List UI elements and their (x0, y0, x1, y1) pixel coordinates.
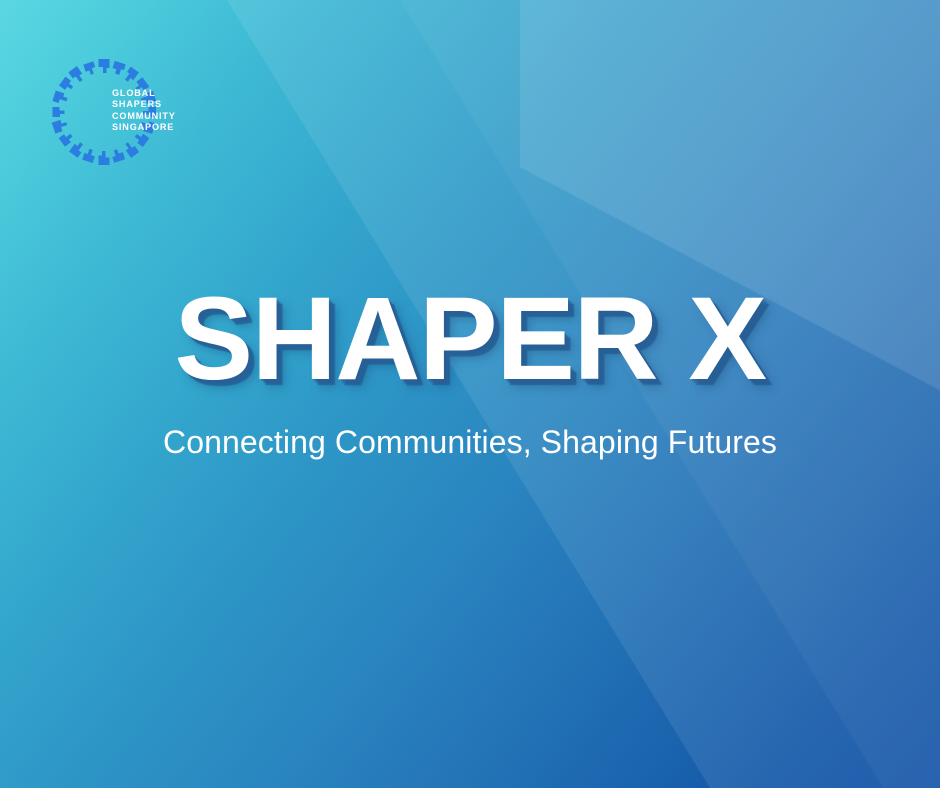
headline-block: SHAPER X Connecting Communities, Shaping… (0, 280, 940, 460)
shaper-x-banner: GLOBAL SHAPERS COMMUNITY SINGAPORE SHAPE… (0, 0, 940, 788)
page-title: SHAPER X (0, 280, 940, 398)
global-shapers-logo: GLOBAL SHAPERS COMMUNITY SINGAPORE (44, 52, 244, 172)
logo-line-community: COMMUNITY (112, 111, 176, 122)
page-subtitle: Connecting Communities, Shaping Futures (0, 424, 940, 460)
logo-wordmark: GLOBAL SHAPERS COMMUNITY SINGAPORE (112, 88, 176, 134)
logo-line-global: GLOBAL (112, 88, 176, 99)
logo-line-shapers: SHAPERS (112, 99, 176, 110)
logo-line-singapore: SINGAPORE (112, 122, 176, 133)
